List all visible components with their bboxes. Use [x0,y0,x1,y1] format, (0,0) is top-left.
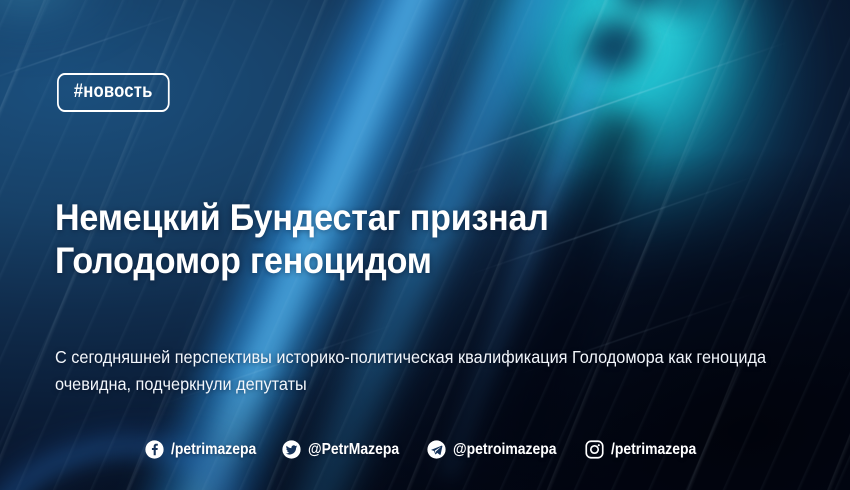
social-link-telegram[interactable]: @petroimazepa [427,440,568,459]
social-handle: /petrimazepa [171,442,256,458]
instagram-icon [585,440,604,459]
twitter-icon [282,440,301,459]
social-link-instagram[interactable]: /petrimazepa [585,440,706,459]
social-link-twitter[interactable]: @PetrMazepa [282,440,409,459]
social-handle: /petrimazepa [611,442,696,458]
headline: Немецкий Бундестаг признал Голодомор ген… [55,196,690,283]
facebook-icon [145,440,164,459]
category-tag[interactable]: #новость [57,73,169,112]
social-links-bar: /petrimazepa @PetrMazepa [0,440,850,459]
social-handle: @PetrMazepa [308,442,399,458]
subtitle: С сегодняшней перспективы историко-полит… [55,344,790,398]
news-card: #новость Немецкий Бундестаг признал Голо… [0,0,850,490]
social-link-facebook[interactable]: /petrimazepa [145,440,266,459]
social-handle: @petroimazepa [453,442,557,458]
telegram-icon [427,440,446,459]
card-content: #новость Немецкий Бундестаг признал Голо… [0,0,850,490]
